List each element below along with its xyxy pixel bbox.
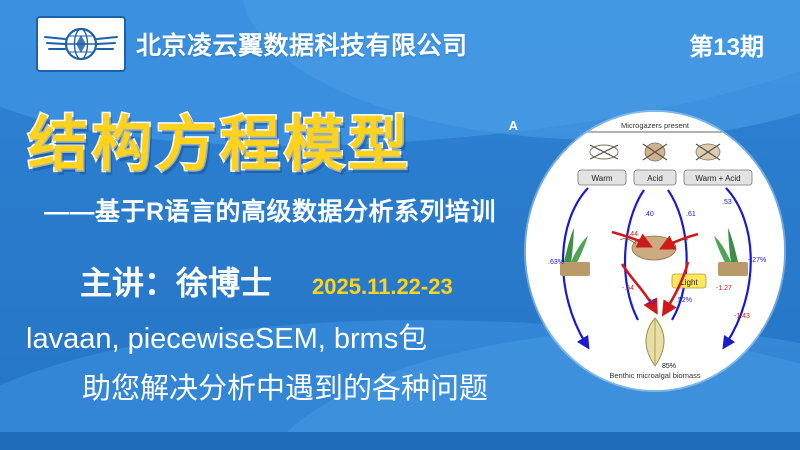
svg-text:.22: .22 [646, 299, 656, 306]
course-dates: 2025.11.22-23 [312, 274, 453, 300]
svg-text:.53: .53 [722, 199, 732, 206]
figure-panel-label: A [509, 118, 518, 133]
speaker-name: 主讲：徐博士 [80, 258, 272, 304]
company-logo [36, 16, 126, 72]
company-name: 北京凌云翼数据科技有限公司 [136, 26, 468, 62]
page-title: 结构方程模型 [28, 96, 412, 183]
page-subtitle: ——基于R语言的高级数据分析系列培训 [44, 192, 496, 228]
tagline: 助您解决分析中遇到的各种问题 [82, 365, 488, 407]
header: 北京凌云翼数据科技有限公司 [36, 16, 468, 72]
poster-canvas: 北京凌云翼数据科技有限公司 第13期 结构方程模型 ——基于R语言的高级数据分析… [0, 0, 800, 450]
svg-text:.52%: .52% [676, 297, 692, 304]
svg-text:Benthic microalgal biomass: Benthic microalgal biomass [609, 371, 701, 380]
issue-badge: 第13期 [689, 27, 764, 62]
svg-text:.63%: .63% [548, 259, 564, 266]
svg-text:.40: .40 [644, 211, 654, 218]
packages-line: lavaan, piecewiseSEM, brms包 [26, 315, 427, 357]
svg-text:-.27%: -.27% [748, 257, 766, 264]
winged-globe-logo-icon [41, 22, 121, 66]
svg-text:Acid: Acid [647, 174, 663, 183]
bottom-bar [0, 432, 800, 450]
svg-text:Warm: Warm [591, 174, 612, 183]
svg-text:85%: 85% [662, 363, 676, 370]
svg-text:.61: .61 [686, 211, 696, 218]
svg-text:Microgazers present: Microgazers present [621, 121, 690, 130]
svg-text:-.44: -.44 [626, 231, 638, 238]
speaker-row: 主讲：徐博士 2025.11.22-23 [80, 258, 453, 304]
svg-text:-1.43: -1.43 [734, 313, 750, 320]
svg-text:-1.27: -1.27 [716, 285, 732, 292]
svg-text:Warm + Acid: Warm + Acid [695, 174, 740, 183]
sem-path-diagram: Microgazers present Warm Acid [526, 112, 784, 390]
svg-text:-.54: -.54 [622, 285, 634, 292]
